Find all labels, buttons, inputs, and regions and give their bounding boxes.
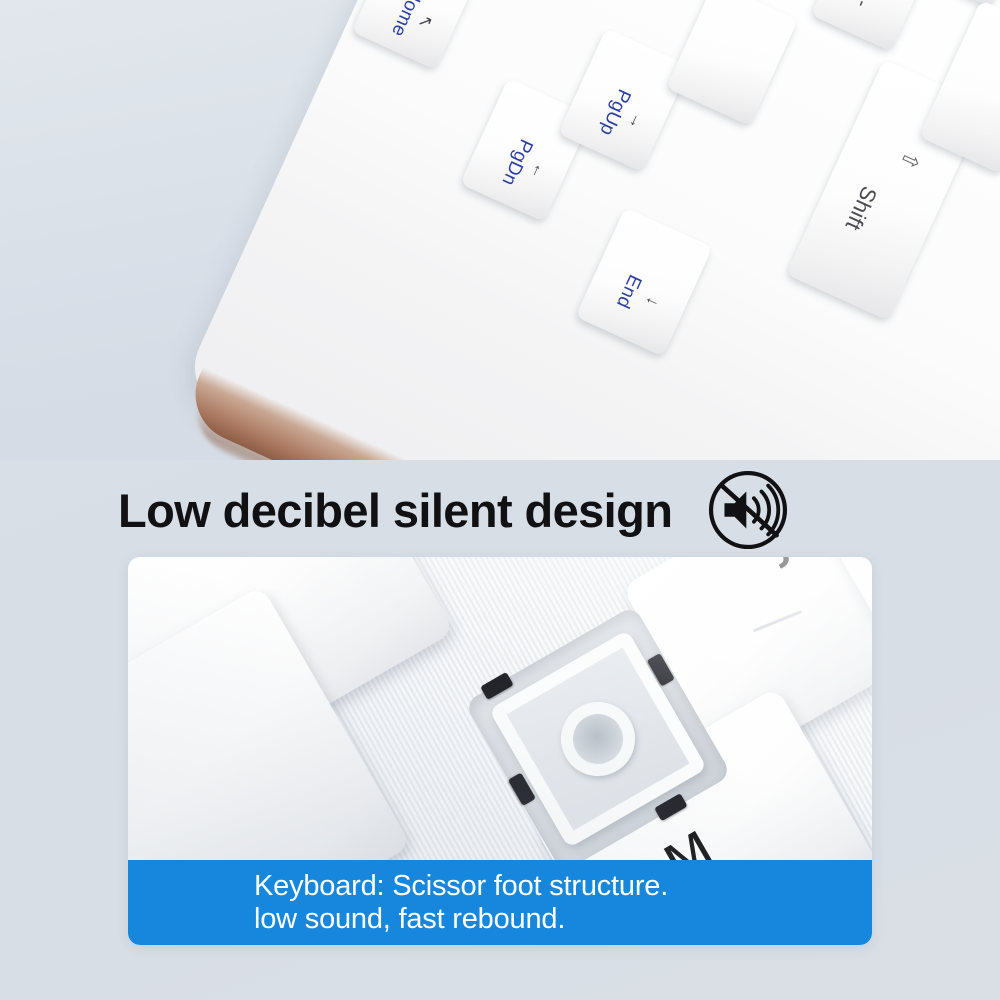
page-title: Low decibel silent design: [118, 487, 672, 534]
mute-speaker-icon: [706, 468, 790, 552]
scissor-switch-photo: J M: [128, 557, 872, 860]
caption-line-1: Keyboard: Scissor foot structure.: [254, 870, 872, 903]
key-pgdn-arrow: ←: [527, 160, 550, 183]
keyboard-corner-photo: Home ↖ - = PgDn ← PgUp → End ↓ Shi: [0, 0, 1000, 460]
key-pgup-label: PgUp: [594, 85, 634, 138]
headline-row: Low decibel silent design: [0, 462, 1000, 558]
key-minus-label: -: [850, 0, 873, 11]
key-end-arrow: ↓: [643, 295, 662, 310]
shift-up-arrow-icon: ⇧: [896, 147, 924, 173]
product-feature-image: Home ↖ - = PgDn ← PgUp → End ↓ Shi: [0, 0, 1000, 1000]
key-home-arrow: ↖: [415, 12, 436, 32]
caption-bar: Keyboard: Scissor foot structure. low so…: [128, 860, 872, 945]
key-pgdn-label: PgDn: [496, 135, 536, 188]
feature-panel: J M Keyboard: Scisso: [128, 557, 872, 945]
key-pgup-arrow: →: [625, 110, 648, 133]
key-shift-label: Shift: [840, 182, 883, 234]
key-end-label: End: [611, 271, 645, 312]
caption-line-2: low sound, fast rebound.: [254, 903, 872, 936]
photo-sheen: [128, 557, 872, 860]
